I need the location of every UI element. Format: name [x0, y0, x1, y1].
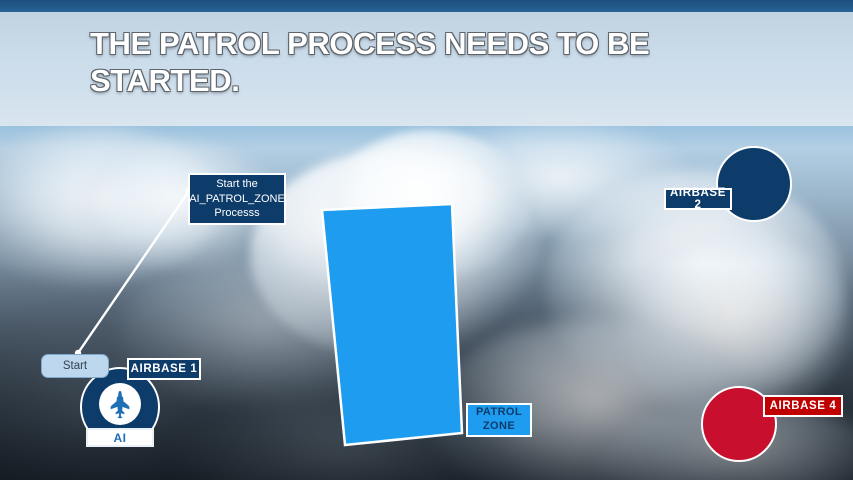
airbase-4-label[interactable]: AIRBASE 4 [763, 395, 843, 417]
start-button[interactable]: Start [41, 354, 109, 378]
airbase-1-label[interactable]: AIRBASE 1 [127, 358, 201, 380]
diagram-layer: AIRBASE 2 AIRBASE 4 PATROL ZONE AI AIRBA… [0, 0, 853, 480]
ai-node-label[interactable]: AI [86, 428, 154, 447]
patrol-zone-shape [322, 204, 462, 445]
patrol-zone-label[interactable]: PATROL ZONE [466, 403, 532, 437]
process-callout[interactable]: Start the AI_PATROL_ZONE Processs [188, 173, 286, 225]
slide-canvas: THE PATROL PROCESS NEEDS TO BE STARTED. … [0, 0, 853, 480]
fighter-jet-icon [105, 389, 135, 419]
airbase-2-label[interactable]: AIRBASE 2 [664, 188, 732, 210]
ai-node-disc [99, 383, 141, 425]
